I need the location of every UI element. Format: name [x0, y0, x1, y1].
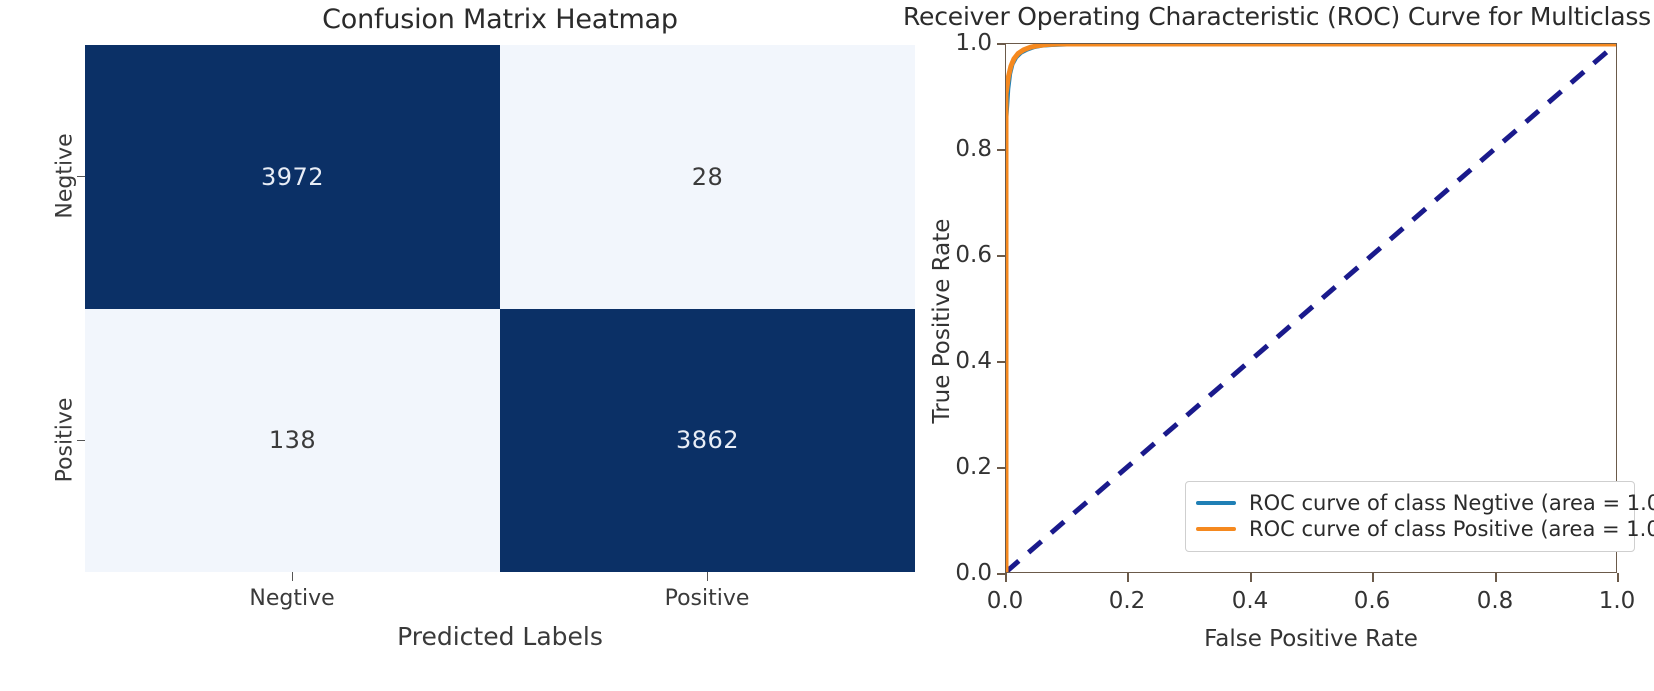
- roc-y-tick-mark-4: [997, 149, 1005, 151]
- roc-x-tick-label-1: 0.2: [1109, 588, 1146, 614]
- roc-y-tick-mark-5: [997, 43, 1005, 45]
- roc-x-tick-label-4: 0.8: [1477, 588, 1514, 614]
- legend-line-swatch-negtive: [1196, 501, 1236, 505]
- roc-y-tick-mark-3: [997, 255, 1005, 257]
- roc-x-tick-label-2: 0.4: [1232, 588, 1269, 614]
- x-tick-label-negtive: Negtive: [249, 586, 334, 611]
- heatmap-cell-0-1: 28: [500, 45, 915, 309]
- x-tick-mark-1: [707, 572, 708, 581]
- x-tick-label-positive: Positive: [665, 586, 750, 611]
- roc-y-tick-label-5: 1.0: [912, 30, 992, 56]
- legend-line-swatch-positive: [1196, 527, 1236, 531]
- roc-x-tick-mark-4: [1495, 573, 1497, 582]
- y-tick-mark-0: [77, 176, 85, 177]
- confusion-matrix-plot-area: 3972 28 138 3862: [85, 45, 915, 572]
- heatmap-cell-1-1: 3862: [500, 309, 915, 573]
- confusion-matrix-panel: Confusion Matrix Heatmap 3972 28 138 386…: [0, 0, 900, 691]
- matplotlib-figure: Confusion Matrix Heatmap 3972 28 138 386…: [0, 0, 1654, 691]
- heatmap-cell-value: 28: [692, 163, 724, 191]
- legend-item-positive: ROC curve of class Positive (area = 1.00…: [1196, 516, 1624, 542]
- legend-label-negtive: ROC curve of class Negtive (area = 1.00): [1249, 491, 1654, 515]
- heatmap-cell-0-0: 3972: [85, 45, 500, 309]
- legend-label-positive: ROC curve of class Positive (area = 1.00…: [1249, 517, 1654, 541]
- roc-x-tick-mark-0: [1005, 573, 1007, 582]
- x-tick-mark-0: [292, 572, 293, 581]
- roc-x-tick-label-5: 1.0: [1599, 588, 1636, 614]
- confusion-matrix-title: Confusion Matrix Heatmap: [85, 4, 915, 35]
- legend-item-negtive: ROC curve of class Negtive (area = 1.00): [1196, 490, 1624, 516]
- roc-legend: ROC curve of class Negtive (area = 1.00)…: [1185, 481, 1635, 552]
- roc-x-tick-mark-2: [1250, 573, 1252, 582]
- heatmap-cell-value: 138: [269, 426, 316, 454]
- heatmap-cell-value: 3972: [261, 163, 324, 191]
- roc-chart-title: Receiver Operating Characteristic (ROC) …: [900, 2, 1654, 31]
- roc-x-axis-title: False Positive Rate: [1005, 626, 1617, 652]
- y-tick-label-negtive: Negtive: [53, 106, 78, 246]
- roc-x-tick-mark-3: [1372, 573, 1374, 582]
- roc-y-tick-mark-2: [997, 361, 1005, 363]
- roc-x-tick-label-0: 0.0: [987, 588, 1024, 614]
- roc-x-tick-mark-5: [1617, 573, 1619, 582]
- heatmap-cell-1-0: 138: [85, 309, 500, 573]
- roc-x-tick-mark-1: [1127, 573, 1129, 582]
- roc-x-tick-label-3: 0.6: [1354, 588, 1391, 614]
- heatmap-cell-value: 3862: [676, 426, 739, 454]
- roc-curve-panel: Receiver Operating Characteristic (ROC) …: [900, 0, 1654, 691]
- x-axis-title: Predicted Labels: [85, 622, 915, 651]
- roc-y-tick-mark-1: [997, 467, 1005, 469]
- roc-y-tick-mark-0: [997, 573, 1005, 575]
- y-tick-label-positive: Positive: [53, 370, 78, 510]
- y-tick-mark-1: [77, 440, 85, 441]
- roc-y-axis-title: True Positive Rate: [929, 61, 955, 581]
